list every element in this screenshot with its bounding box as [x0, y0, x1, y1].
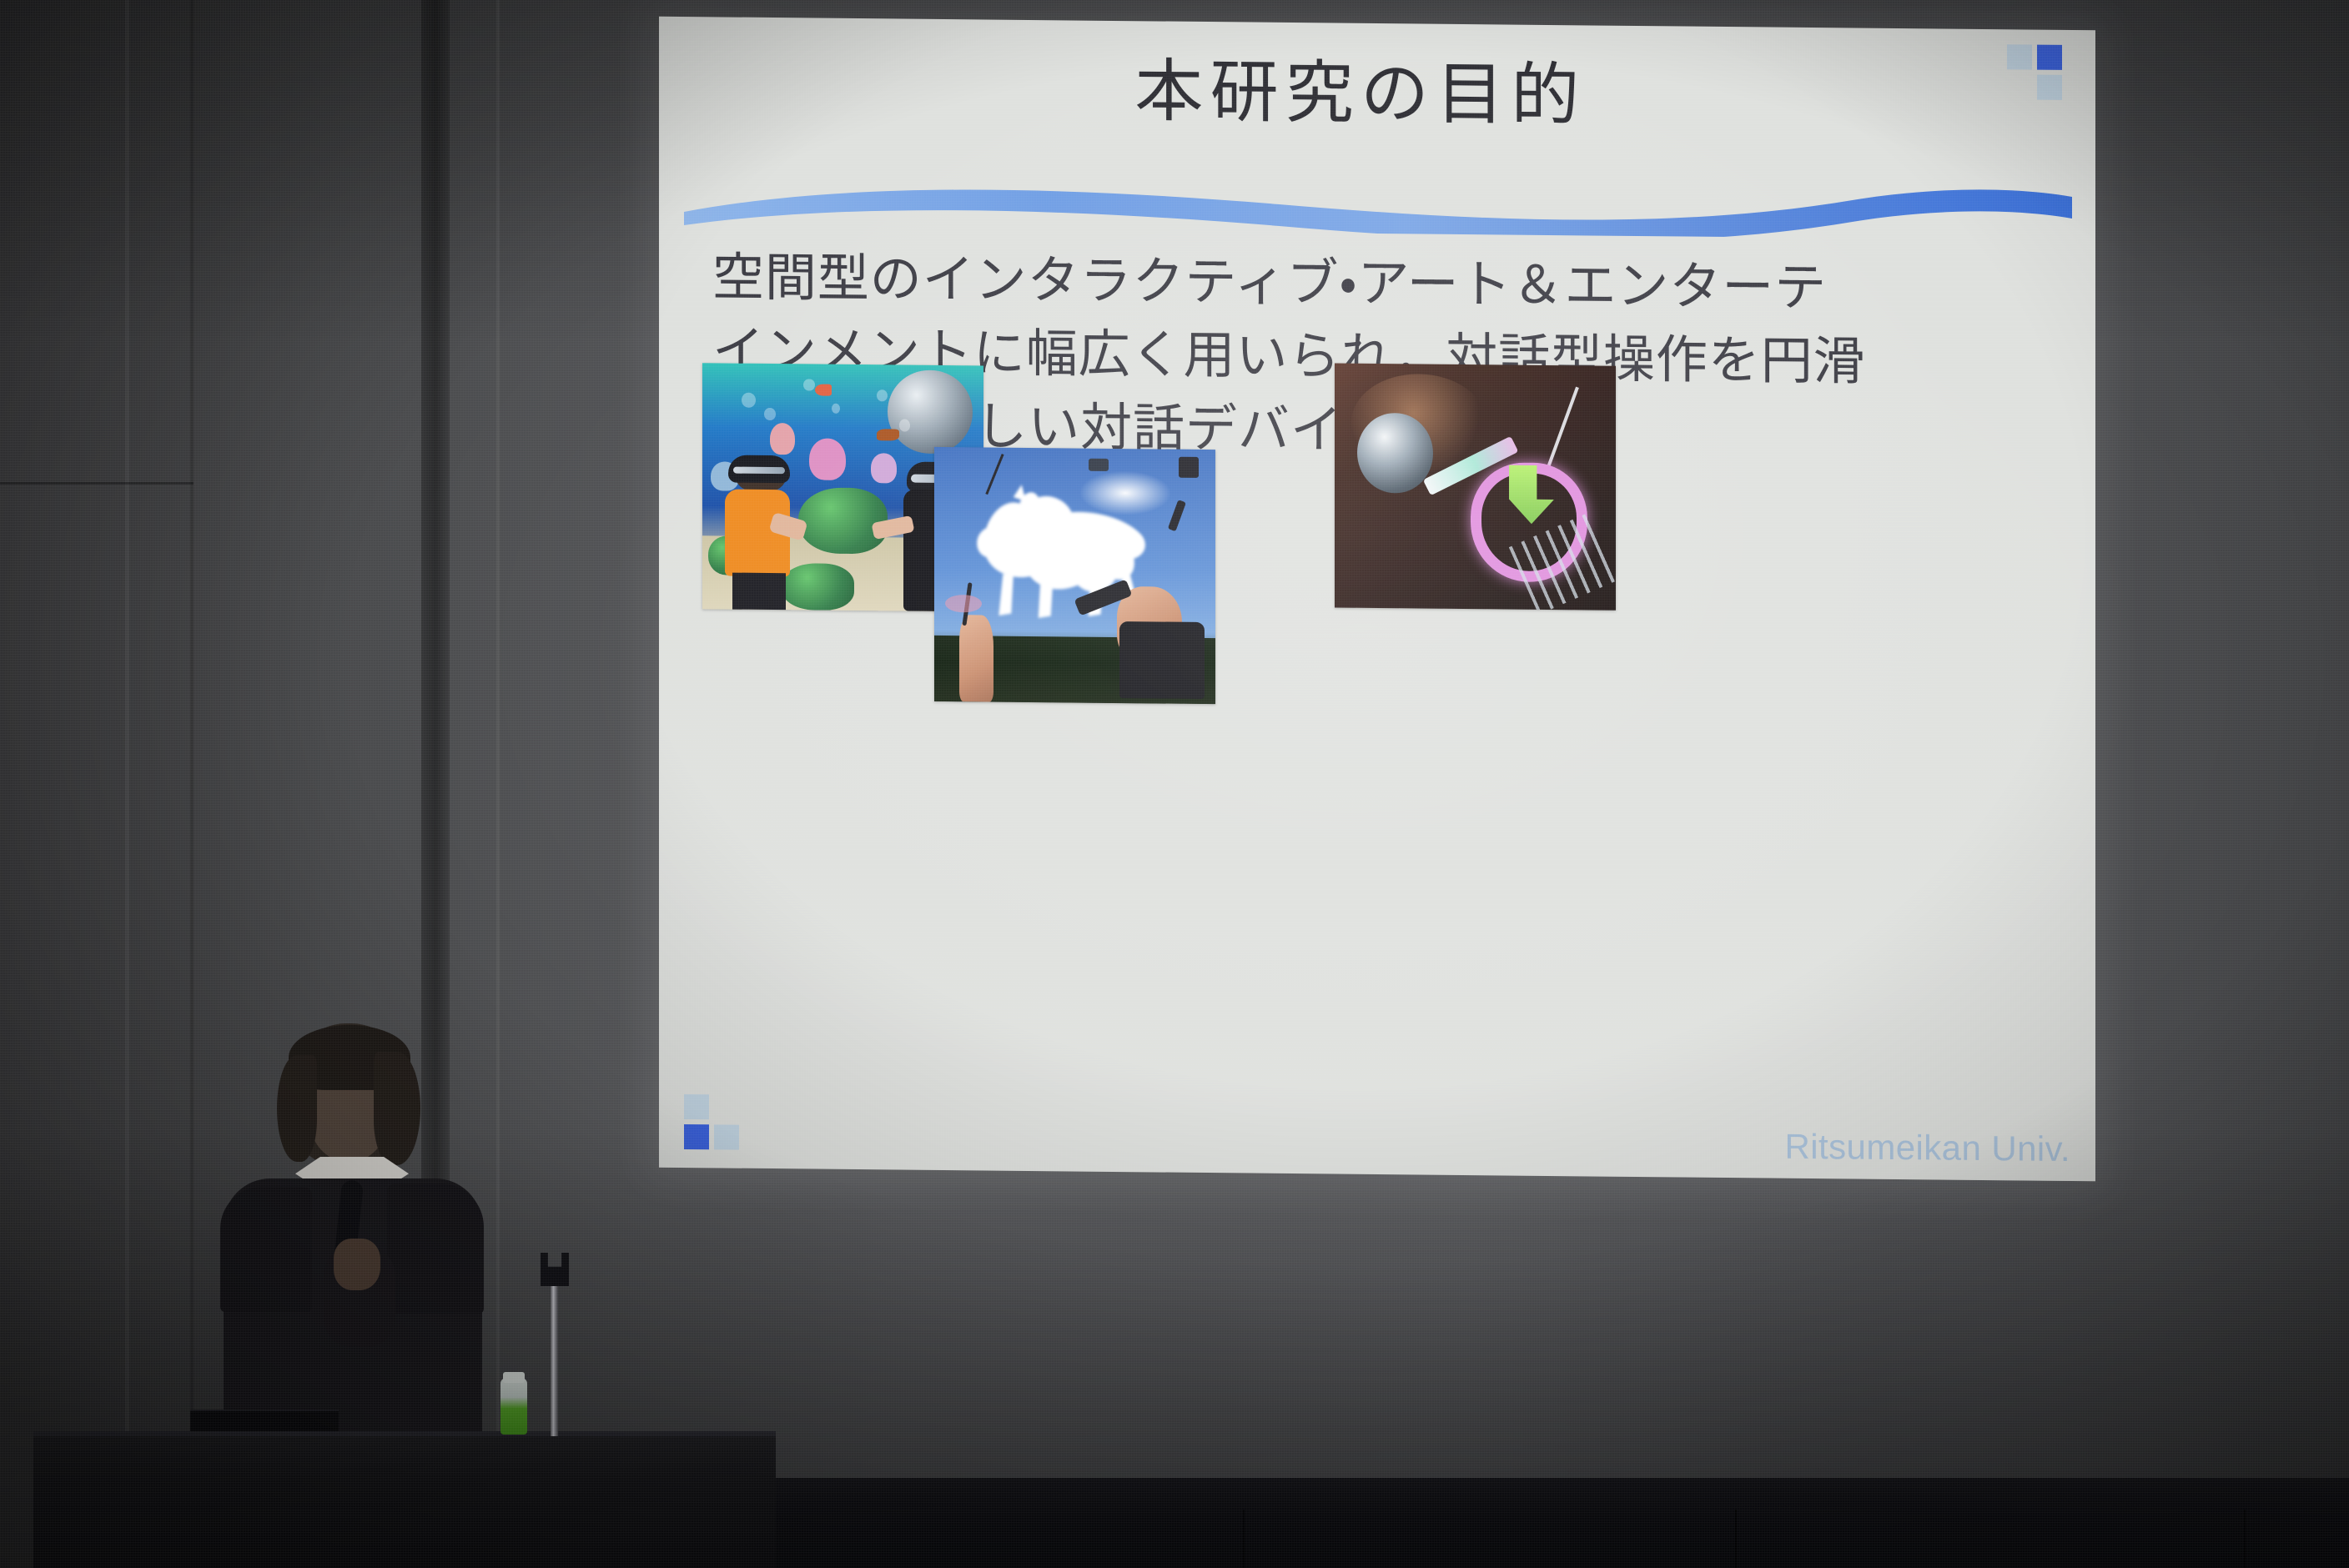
scene-vignette	[0, 0, 2349, 1568]
lecture-hall-scene: 本研究の目的 空間型のインタラクティブ・アート＆エンターテ インメ	[0, 0, 2349, 1568]
